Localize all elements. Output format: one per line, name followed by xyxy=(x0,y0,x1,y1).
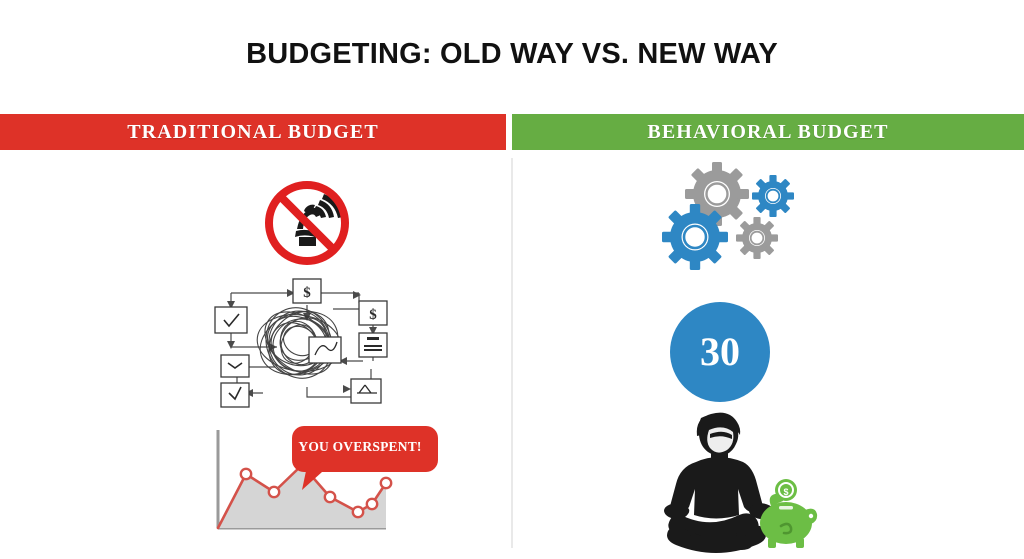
overspend-chart xyxy=(208,422,448,554)
behavioral-budget-header: BEHAVIORAL BUDGET xyxy=(512,114,1024,150)
no-alarm-icon xyxy=(252,173,362,273)
thirty-badge-circle: 30 xyxy=(670,302,770,402)
behavioral-budget-header-label: BEHAVIORAL BUDGET xyxy=(647,121,888,144)
svg-text:$: $ xyxy=(369,307,377,323)
tangled-flowchart-icon: $ $ xyxy=(203,275,399,410)
meditating-person-icon: $ xyxy=(653,410,818,555)
traditional-budget-header-label: TRADITIONAL BUDGET xyxy=(127,121,379,144)
gear-blue-large xyxy=(662,204,728,270)
traditional-budget-header: TRADITIONAL BUDGET xyxy=(0,114,506,150)
gear-gray-small xyxy=(736,217,778,259)
piggy-bank-icon: $ xyxy=(760,479,817,548)
infographic-page: BUDGETING: OLD WAY VS. NEW WAY TRADITION… xyxy=(0,0,1024,559)
thirty-badge: 30 xyxy=(670,302,770,402)
gear-blue-small xyxy=(752,175,794,217)
svg-text:$: $ xyxy=(783,487,788,497)
traditional-budget-panel: $ $ xyxy=(0,150,511,559)
svg-text:$: $ xyxy=(303,285,311,301)
behavioral-budget-panel: 30 xyxy=(513,150,1024,559)
page-title: BUDGETING: OLD WAY VS. NEW WAY xyxy=(0,38,1024,71)
thirty-badge-value: 30 xyxy=(700,332,740,372)
gears-icon xyxy=(655,160,805,275)
